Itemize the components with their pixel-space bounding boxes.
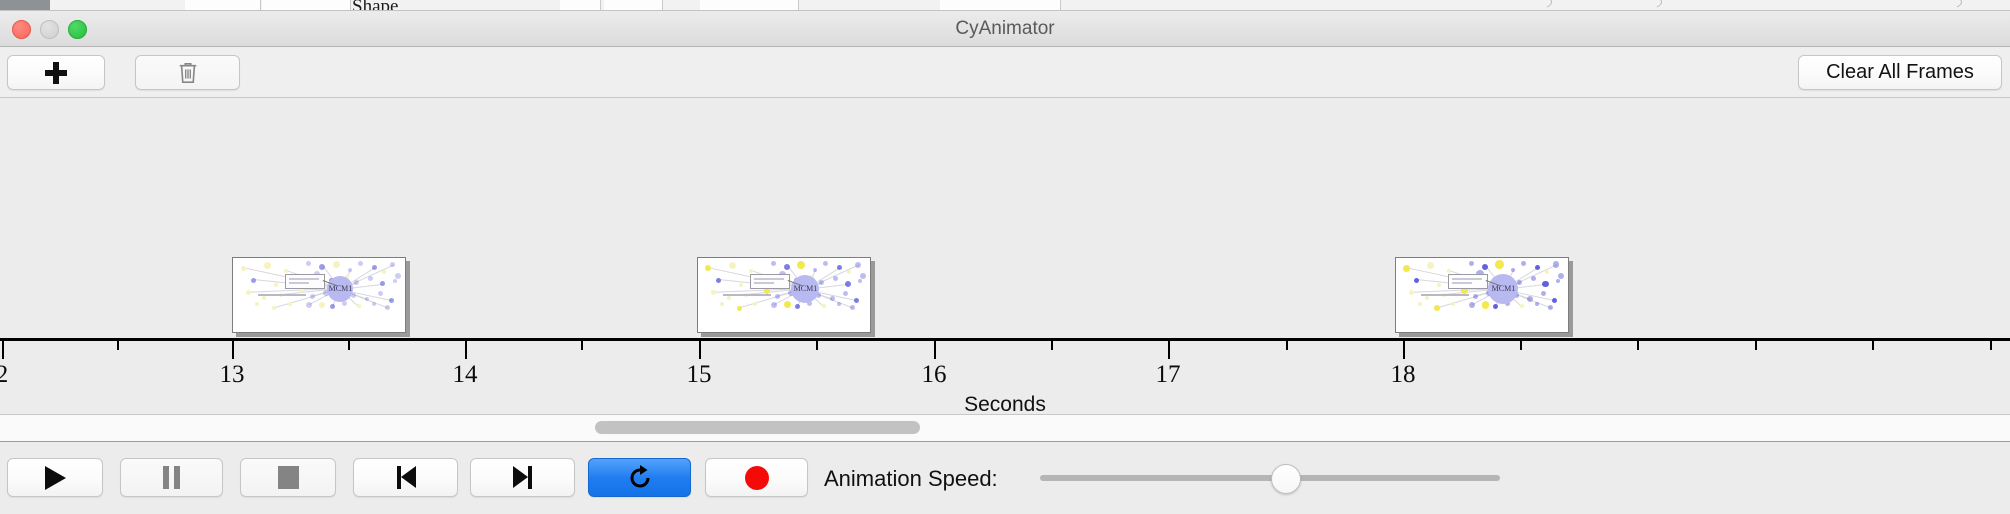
network-node [1520, 304, 1524, 308]
host-tab [185, 0, 261, 10]
window-title: CyAnimator [0, 18, 2010, 40]
network-node [711, 290, 716, 295]
axis-tick [1403, 341, 1405, 359]
stop-icon [278, 466, 299, 489]
skip-start-button[interactable] [353, 458, 458, 497]
trash-icon [177, 61, 199, 85]
delete-frame-button[interactable] [135, 55, 240, 90]
axis-tick [699, 341, 701, 359]
network-node [771, 302, 777, 308]
network-node [753, 302, 757, 306]
network-node [1548, 305, 1553, 310]
network-node [241, 266, 246, 271]
skip-end-button[interactable] [470, 458, 575, 497]
network-node [1558, 273, 1564, 279]
network-node [382, 270, 386, 274]
network-node [1535, 302, 1539, 306]
network-node [368, 276, 373, 281]
network-node [1403, 265, 1410, 272]
network-node [1409, 290, 1414, 295]
network-node [843, 291, 848, 296]
loop-button[interactable] [588, 458, 691, 497]
network-node [1434, 305, 1440, 311]
network-node [1553, 261, 1560, 268]
network-hub-label: MCM1 [794, 284, 818, 293]
network-node [1482, 301, 1490, 309]
network-node [274, 283, 278, 287]
network-annotation-text [1421, 294, 1469, 296]
network-node [1451, 302, 1455, 306]
network-node [1541, 291, 1546, 296]
network-node [365, 297, 369, 301]
network-node [1542, 281, 1549, 288]
network-node [380, 281, 385, 286]
network-hub-label: MCM1 [1492, 284, 1516, 293]
network-node [749, 269, 753, 273]
network-node [390, 262, 395, 267]
network-node [845, 281, 851, 287]
network-node [264, 262, 271, 269]
network-node [246, 290, 251, 295]
network-node [822, 304, 826, 308]
network-node [1511, 268, 1515, 272]
frame-thumbnail-2[interactable]: MCM1 [697, 257, 871, 333]
axis-tick-label: 18 [1391, 361, 1416, 389]
network-annotation-text [723, 294, 771, 296]
network-node [1527, 296, 1533, 302]
axis-title: Seconds [0, 393, 2010, 415]
network-hub-label: MCM1 [329, 284, 353, 293]
axis-tick [1286, 341, 1288, 350]
axis-tick [1872, 341, 1874, 350]
network-node [358, 261, 363, 266]
host-tab [700, 0, 799, 10]
network-node [1425, 296, 1429, 300]
network-node [385, 305, 390, 310]
network-node [775, 294, 780, 299]
axis-tick [1637, 341, 1639, 350]
callout-text-line [1452, 278, 1482, 280]
scrollbar-thumb[interactable] [595, 421, 920, 434]
network-node [1531, 276, 1536, 281]
axis-tick [581, 341, 583, 350]
axis-tick [465, 341, 467, 359]
network-node [705, 265, 711, 271]
play-icon [45, 466, 66, 490]
network-node [837, 302, 841, 306]
network-node [272, 306, 276, 310]
network-node [833, 276, 838, 281]
axis-tick [232, 341, 234, 359]
animation-speed-knob[interactable] [1271, 464, 1301, 494]
host-tab [262, 0, 351, 10]
plus-icon [45, 62, 67, 84]
network-node [354, 280, 359, 285]
callout-text-line [289, 278, 319, 280]
host-tab [560, 0, 601, 10]
axis-tick [2, 341, 4, 359]
network-node [1493, 304, 1498, 309]
frame-thumbnail-3[interactable]: MCM1 [1395, 257, 1569, 333]
network-node [1437, 283, 1441, 287]
axis-tick [1520, 341, 1522, 350]
network-node [306, 261, 311, 266]
network-callout-box [750, 274, 790, 289]
axis-tick-label: 2 [0, 361, 8, 389]
network-node [372, 265, 377, 270]
animation-speed-slider[interactable] [1040, 475, 1500, 481]
network-node [797, 261, 805, 269]
network-node [830, 296, 835, 301]
record-button[interactable] [705, 458, 808, 497]
network-node [739, 283, 743, 287]
callout-text-line [754, 282, 774, 284]
clear-all-frames-button[interactable]: Clear All Frames [1798, 55, 2002, 90]
clear-all-frames-label: Clear All Frames [1826, 61, 1974, 84]
animation-speed-label: Animation Speed: [824, 466, 998, 492]
network-node [389, 298, 394, 303]
network-node [1552, 298, 1557, 303]
callout-text-line [754, 278, 784, 280]
play-button[interactable] [7, 458, 103, 497]
axis-tick [117, 341, 119, 350]
network-node [333, 261, 340, 268]
timeline-panel[interactable]: 2131415161718 MCM1MCM1MCM1 Seconds [0, 98, 2010, 415]
network-node [1418, 302, 1422, 306]
network-annotation-text [258, 294, 306, 296]
network-node [737, 306, 742, 311]
host-tab [940, 0, 1061, 10]
network-node [348, 268, 352, 272]
network-node [1556, 279, 1560, 283]
host-sidebar-strip [0, 0, 50, 10]
host-tab [604, 0, 663, 10]
network-node [378, 291, 383, 296]
callout-text-line [1452, 282, 1472, 284]
network-graph-preview: MCM1 [1396, 258, 1568, 332]
axis-tick-label: 14 [453, 361, 478, 389]
axis-tick [1168, 341, 1170, 359]
axis-tick [816, 341, 818, 350]
network-callout-box [1448, 274, 1488, 289]
network-node [819, 280, 824, 285]
network-node [795, 304, 800, 309]
axis-tick-label: 16 [922, 361, 947, 389]
network-node [372, 302, 376, 306]
pause-icon [163, 466, 180, 489]
network-node [855, 262, 861, 268]
network-node [1469, 261, 1474, 266]
network-node [850, 305, 855, 310]
network-node [306, 302, 312, 308]
network-graph-preview: MCM1 [233, 258, 405, 332]
network-node [1473, 294, 1478, 299]
network-node [1469, 302, 1475, 308]
network-node [395, 273, 401, 279]
network-graph-preview: MCM1 [698, 258, 870, 332]
axis-tick-label: 13 [220, 361, 245, 389]
stop-button[interactable] [240, 458, 336, 497]
network-node [1447, 269, 1451, 273]
record-icon [745, 466, 769, 490]
network-node [823, 261, 828, 266]
network-node [288, 302, 292, 306]
network-node [330, 304, 335, 309]
host-app-background: Shape [0, 0, 2010, 10]
timeline-scrollbar[interactable] [0, 415, 2010, 442]
network-node [319, 302, 325, 308]
pause-button[interactable] [120, 458, 223, 497]
axis-tick [1051, 341, 1053, 350]
network-node [1495, 260, 1504, 269]
network-node [393, 279, 397, 283]
network-node [255, 302, 259, 306]
network-node [771, 261, 776, 266]
network-node [251, 278, 256, 283]
network-node [847, 270, 851, 274]
playback-toolbar: Animation Speed: [0, 442, 2010, 514]
network-node [813, 268, 817, 272]
axis-tick [348, 341, 350, 350]
network-node [860, 273, 866, 279]
network-node [1521, 261, 1526, 266]
network-node [784, 301, 791, 308]
network-node [284, 269, 288, 273]
axis-tick [934, 341, 936, 359]
network-node [1517, 280, 1522, 285]
cyanimator-window: CyAnimator Clear All Frames 213141516171… [0, 10, 2010, 511]
network-node [1427, 262, 1434, 269]
network-node [720, 302, 724, 306]
network-node [262, 296, 266, 300]
network-node [1414, 278, 1419, 283]
network-node [716, 278, 721, 283]
network-node [342, 301, 347, 306]
network-callout-box [285, 274, 325, 289]
add-frame-button[interactable] [7, 55, 105, 90]
skip-back-icon [395, 466, 417, 489]
network-node [858, 279, 862, 283]
network-node [854, 298, 859, 303]
axis-tick [1755, 341, 1757, 350]
network-node [1545, 270, 1549, 274]
network-node [1535, 265, 1540, 270]
callout-text-line [289, 282, 309, 284]
skip-forward-icon [512, 466, 534, 489]
network-node [727, 296, 731, 300]
axis-tick-label: 17 [1156, 361, 1181, 389]
network-node [729, 262, 736, 269]
frame-thumbnail-1[interactable]: MCM1 [232, 257, 406, 333]
window-titlebar: CyAnimator [0, 11, 2010, 47]
network-node [310, 294, 315, 299]
axis-tick [1990, 341, 1992, 350]
network-node [357, 304, 361, 308]
axis-tick-label: 15 [687, 361, 712, 389]
timeline-axis [0, 338, 2010, 341]
loop-icon [627, 465, 653, 491]
network-node [837, 265, 842, 270]
frame-toolbar: Clear All Frames [0, 47, 2010, 98]
